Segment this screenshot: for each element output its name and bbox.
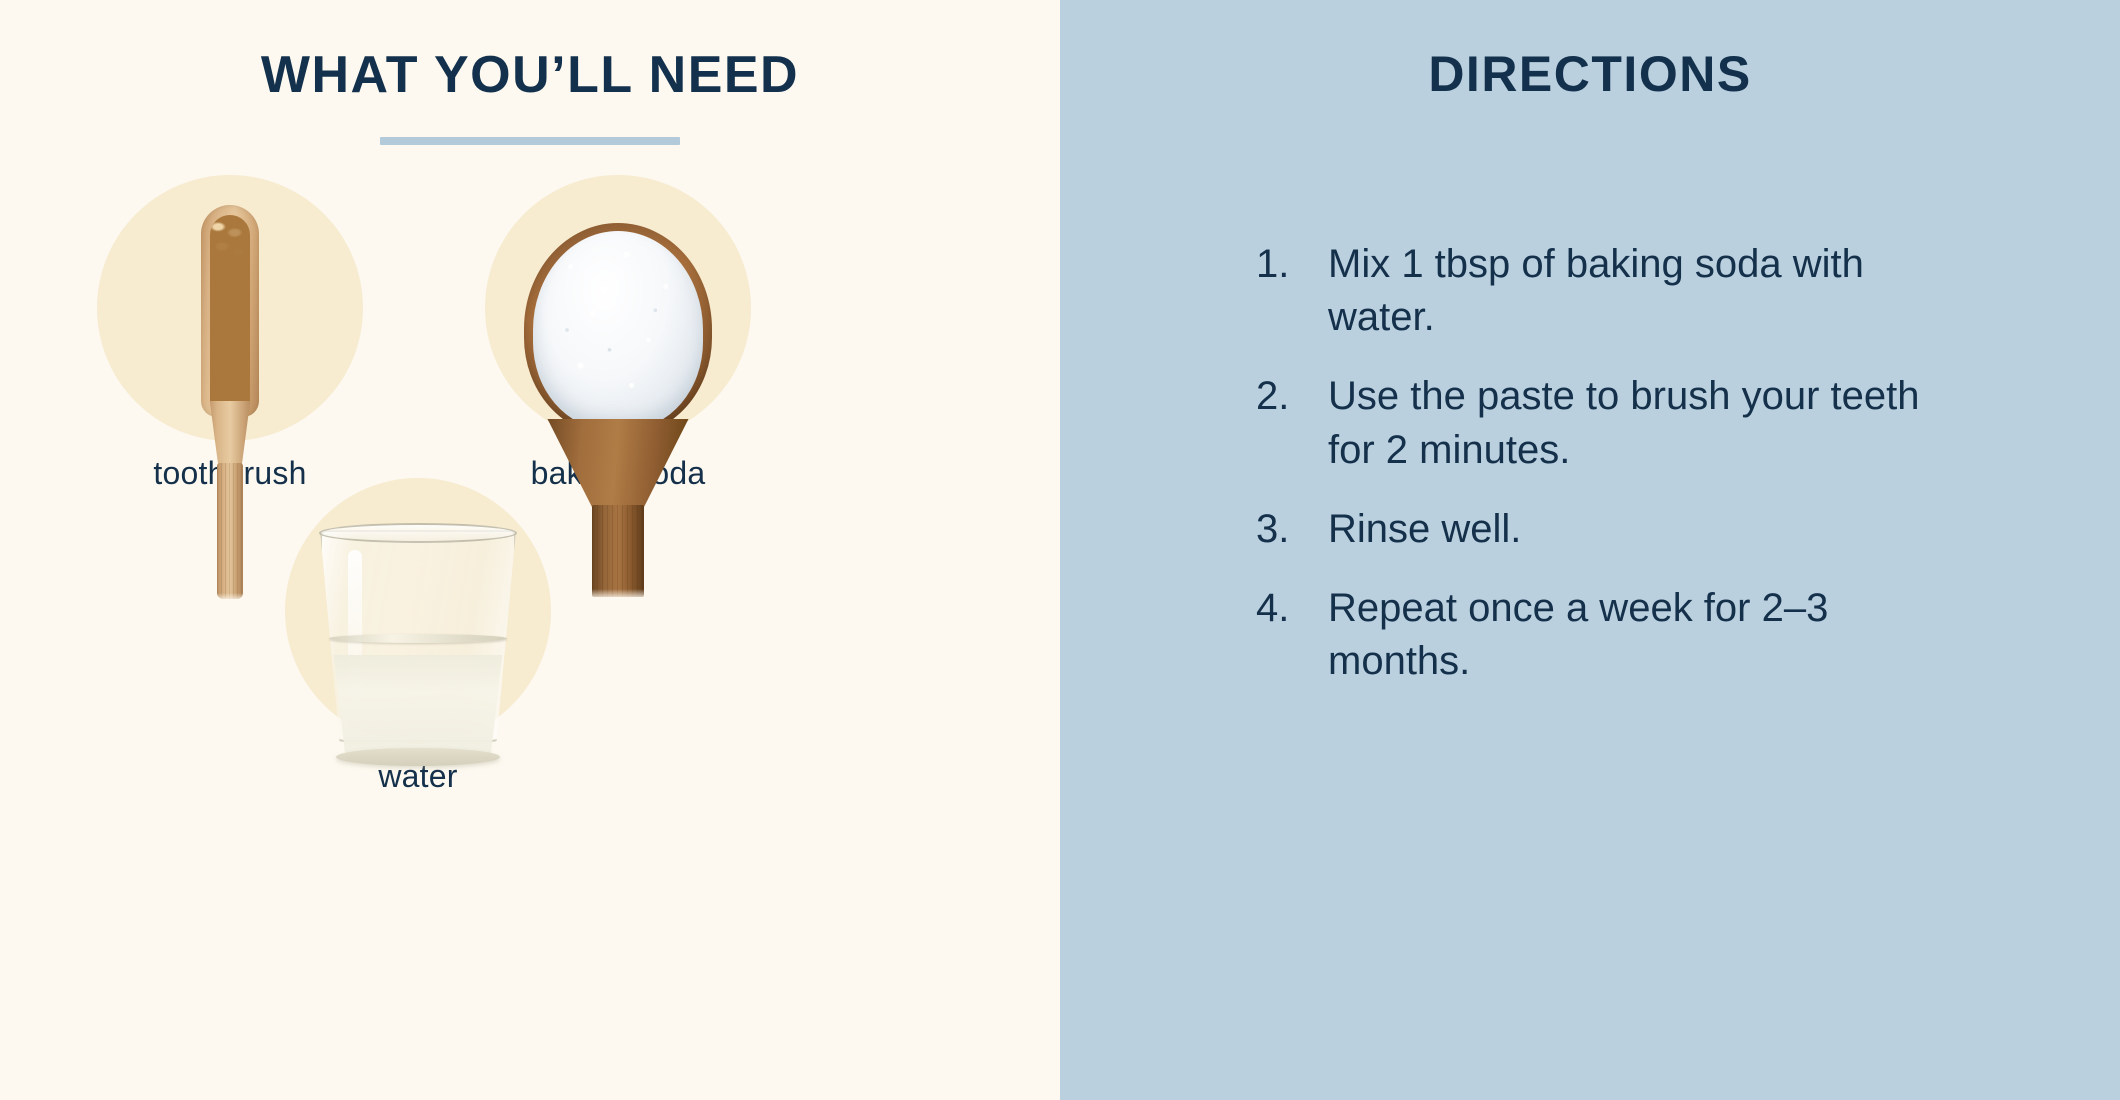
glass-highlight (348, 550, 362, 700)
direction-step-2: 2. Use the paste to brush your teeth for… (1250, 370, 2050, 476)
glass-water-fill (328, 655, 509, 759)
direction-step-text: Rinse well. (1328, 503, 1968, 556)
ingredient-water: water (248, 478, 588, 795)
glass-water-surface (329, 634, 507, 643)
direction-step-number: 1. (1250, 238, 1328, 291)
directions-list: 1. Mix 1 tbsp of baking soda with water.… (1250, 238, 2050, 714)
what-you-need-title: WHAT YOU’LL NEED (0, 45, 1060, 105)
spoon-handle (592, 505, 644, 597)
direction-step-number: 3. (1250, 503, 1328, 556)
glass-rim (319, 523, 517, 543)
direction-step-text: Use the paste to brush your teeth for 2 … (1328, 370, 1968, 476)
direction-step-number: 4. (1250, 582, 1328, 635)
direction-step-3: 3. Rinse well. (1250, 503, 2050, 556)
spoon-bowl (524, 223, 712, 435)
infographic-root: WHAT YOU’LL NEED toothbrush (0, 0, 2120, 1100)
direction-step-4: 4. Repeat once a week for 2–3 months. (1250, 582, 2050, 688)
direction-step-number: 2. (1250, 370, 1328, 423)
water-glass-icon (308, 530, 528, 762)
baking-soda-powder (533, 231, 703, 429)
directions-title: DIRECTIONS (1060, 45, 2120, 103)
ingredient-toothbrush: toothbrush (60, 175, 400, 492)
toothbrush-bristles (210, 215, 250, 411)
directions-panel: DIRECTIONS 1. Mix 1 tbsp of baking soda … (1060, 0, 2120, 1100)
direction-step-text: Mix 1 tbsp of baking soda with water. (1328, 238, 1968, 344)
ingredient-circle-baking-soda (485, 175, 751, 441)
ingredient-circle-toothbrush (97, 175, 363, 441)
direction-step-text: Repeat once a week for 2–3 months. (1328, 582, 1968, 688)
ingredient-circle-water (285, 478, 551, 744)
glass-body (320, 530, 516, 742)
what-you-need-title-rule (380, 137, 680, 145)
ingredient-baking-soda: baking soda (448, 175, 788, 492)
direction-step-1: 1. Mix 1 tbsp of baking soda with water. (1250, 238, 2050, 344)
ingredient-label-water: water (248, 758, 588, 795)
toothbrush-head (201, 205, 259, 417)
what-you-need-panel: WHAT YOU’LL NEED toothbrush (0, 0, 1060, 1100)
